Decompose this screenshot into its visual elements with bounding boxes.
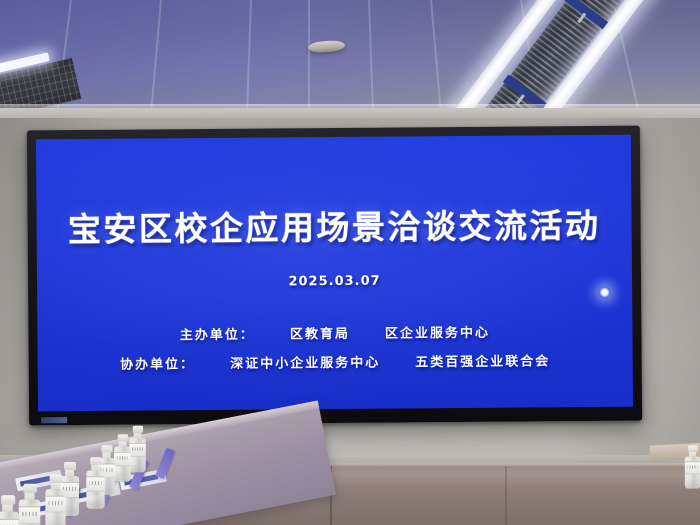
bottle-body [19, 499, 40, 525]
slide-host-line: 主办单位： 区教育局 区企业服务中心 [37, 321, 632, 345]
presentation-slide: 宝安区校企应用场景洽谈交流活动 2025.03.07 主办单位： 区教育局 区企… [36, 135, 633, 412]
slide-coorganizer-line: 协办单位： 深证中小企业服务中心 五类百强企业联合会 [38, 350, 633, 374]
ir-sensor-dot [599, 287, 610, 298]
bottle-body [685, 457, 700, 489]
bottle-cap [0, 495, 14, 504]
host-org-1: 区教育局 [290, 327, 350, 342]
bottle-cap [132, 426, 142, 433]
conference-room-scene: 宝安区校企应用场景洽谈交流活动 2025.03.07 主办单位： 区教育局 区企… [0, 0, 700, 525]
slide-date: 2025.03.07 [37, 272, 632, 292]
host-label: 主办单位： [180, 328, 255, 344]
bottle-label [86, 476, 104, 491]
bottle-body [45, 489, 65, 525]
bottle-label [114, 452, 131, 466]
water-bottle [86, 457, 104, 509]
bottle-label [19, 506, 40, 524]
bottle-body [114, 447, 131, 482]
table-seam [505, 466, 507, 525]
bottle-cap [101, 445, 112, 452]
bottle-body [86, 471, 104, 509]
bottle-label [129, 443, 145, 457]
display-brand-logo [41, 417, 67, 423]
bottle-body [0, 512, 19, 525]
bottle-label [45, 496, 65, 513]
display-screen[interactable]: 宝安区校企应用场景洽谈交流活动 2025.03.07 主办单位： 区教育局 区企… [36, 135, 633, 412]
water-bottle [0, 495, 19, 525]
water-bottle [114, 434, 131, 482]
bottle-neck [24, 493, 34, 500]
coorganizer-org-2: 五类百强企业联合会 [415, 354, 550, 370]
host-org-2: 区企业服务中心 [385, 326, 490, 342]
water-bottle [19, 484, 40, 525]
slide-title: 宝安区校企应用场景洽谈交流活动 [36, 199, 631, 252]
coorganizer-org-1: 深证中小企业服务中心 [230, 356, 380, 372]
bottle-cap [64, 462, 76, 470]
bottle-cap [49, 474, 62, 482]
water-bottle [129, 426, 145, 472]
bottle-body [129, 438, 145, 472]
water-bottle [45, 474, 65, 525]
led-wall-display[interactable]: 宝安区校企应用场景洽谈交流活动 2025.03.07 主办单位： 区教育局 区企… [27, 126, 642, 426]
bottle-cap [23, 484, 36, 493]
water-bottle [685, 445, 700, 488]
bottle-label [685, 461, 700, 474]
bottle-neck [2, 505, 13, 512]
coorganizer-label: 协办单位： [120, 357, 195, 373]
bottle-cap [117, 434, 128, 441]
bottle-label [0, 519, 19, 525]
bottle-cap [90, 457, 102, 465]
